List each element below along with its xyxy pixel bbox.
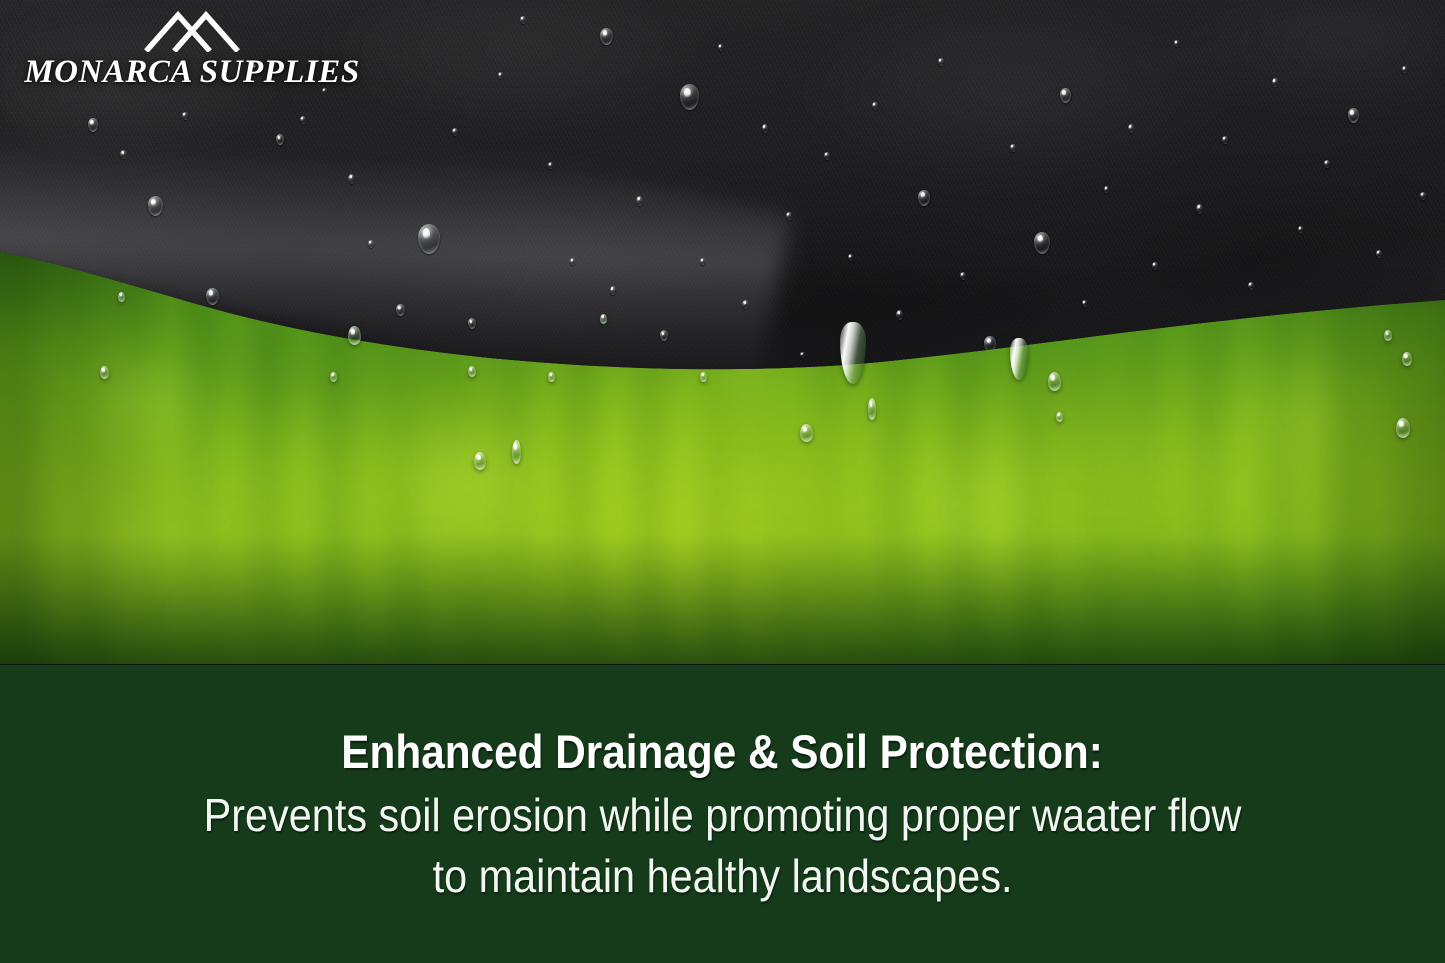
water-droplet (1010, 338, 1028, 380)
brand-name: MONARCA SUPPLIES (22, 54, 362, 91)
caption-body-line-2: to maintain healthy landscapes. (204, 846, 1242, 907)
caption-panel: Enhanced Drainage & Soil Protection: Pre… (0, 664, 1445, 963)
product-feature-banner: MONARCA SUPPLIES Enhanced Drainage & Soi… (0, 0, 1445, 963)
brand-logo[interactable]: MONARCA SUPPLIES (22, 8, 362, 91)
caption-body-line-1: Prevents soil erosion while promoting pr… (204, 785, 1242, 846)
mountain-peaks-icon (144, 8, 240, 52)
water-droplet (840, 322, 866, 384)
caption-body: Prevents soil erosion while promoting pr… (204, 785, 1242, 906)
hanging-droplets-layer (0, 0, 1445, 668)
caption-headline: Enhanced Drainage & Soil Protection: (342, 726, 1104, 779)
